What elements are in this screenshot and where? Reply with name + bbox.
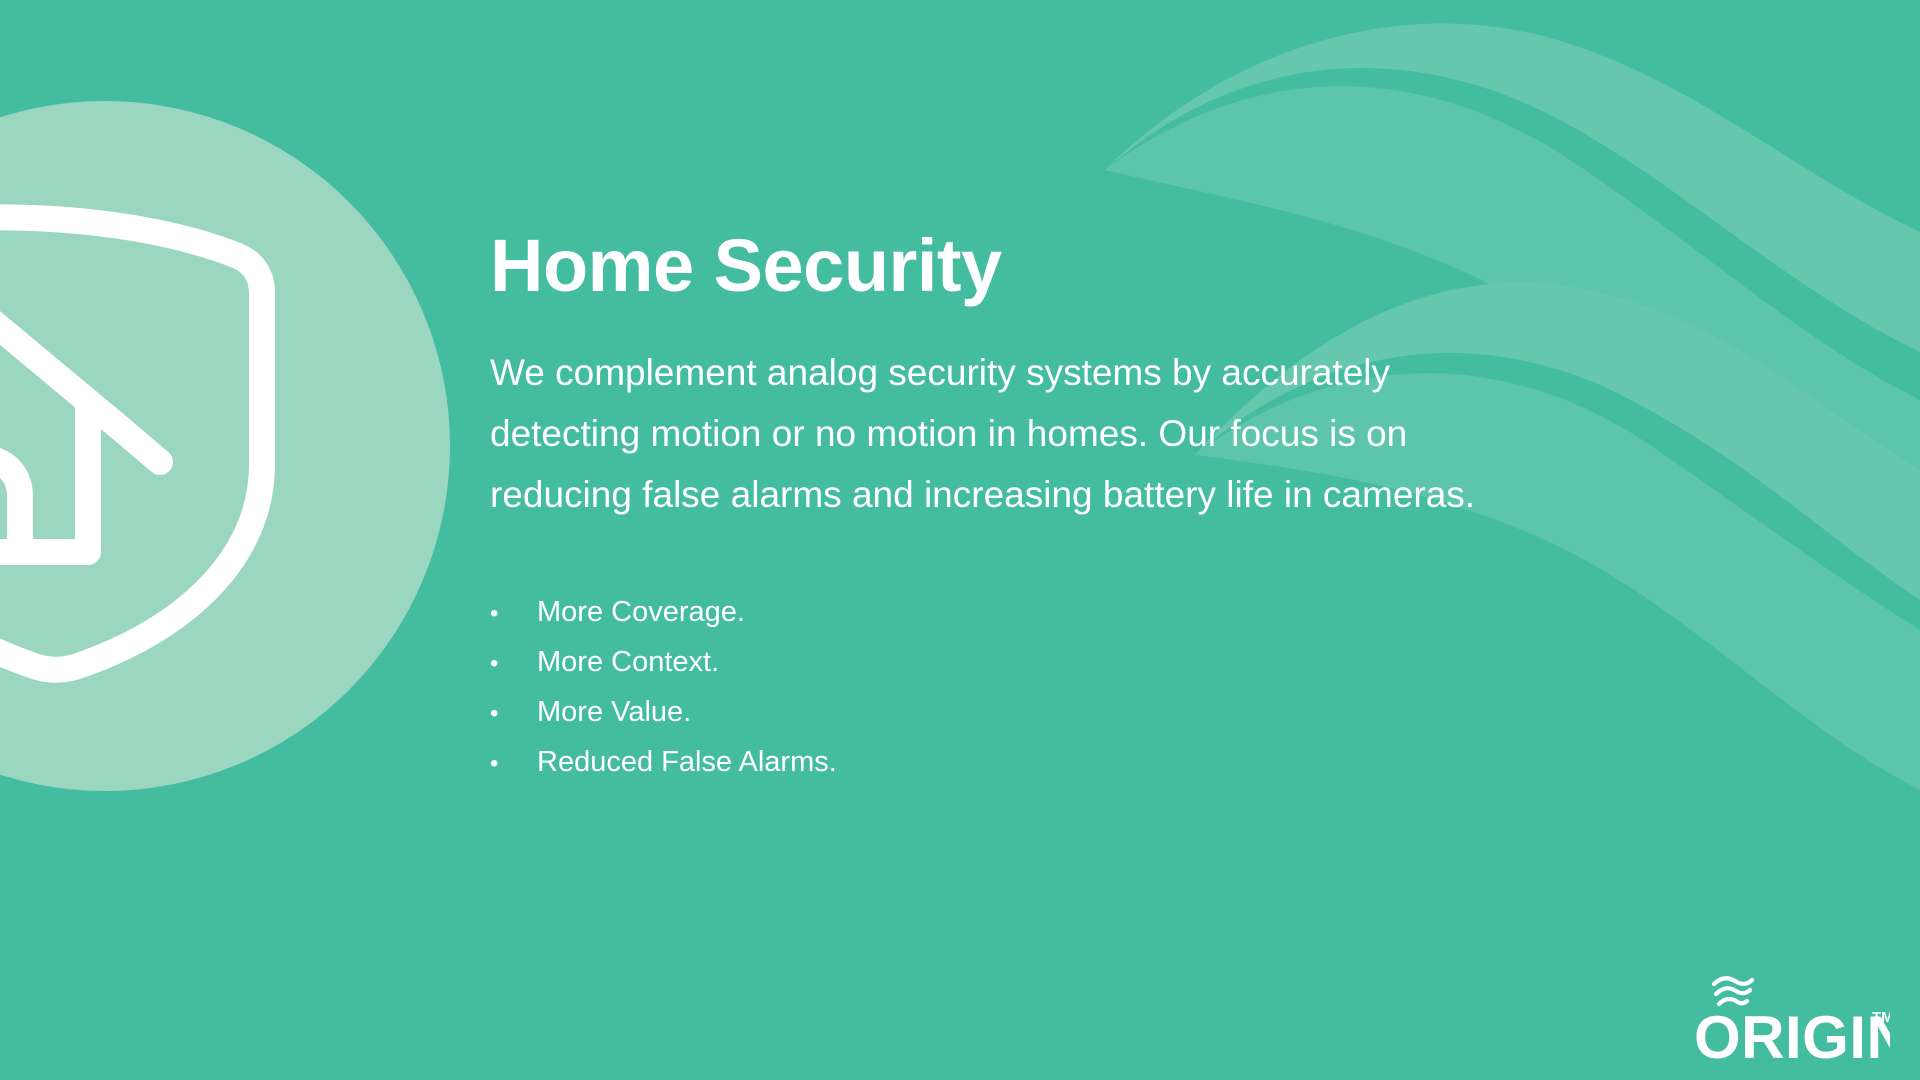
trademark-symbol: TM [1872,1009,1890,1026]
shield-house-icon [0,196,338,686]
origin-wave-mark [1714,978,1752,1004]
slide-home-security: Home Security We complement analog secur… [0,0,1920,1080]
list-item: • More Coverage. [490,596,1290,646]
list-item-label: Reduced False Alarms. [537,746,837,779]
bullet-dot-icon: • [490,702,537,726]
list-item: • Reduced False Alarms. [490,746,1290,796]
origin-logo: ORIGIN TM [1690,970,1890,1066]
list-item: • More Value. [490,696,1290,746]
list-item-label: More Value. [537,696,691,729]
page-title: Home Security [490,229,1002,303]
bullet-dot-icon: • [490,602,537,626]
list-item: • More Context. [490,646,1290,696]
origin-wordmark: ORIGIN [1694,1004,1890,1066]
content-column: Home Security We complement analog secur… [490,0,1500,1080]
bullet-dot-icon: • [490,752,537,776]
benefits-list: • More Coverage. • More Context. • More … [490,596,1290,796]
bullet-dot-icon: • [490,652,537,676]
list-item-label: More Context. [537,646,719,679]
lead-paragraph: We complement analog security systems by… [490,342,1480,525]
list-item-label: More Coverage. [537,596,745,629]
